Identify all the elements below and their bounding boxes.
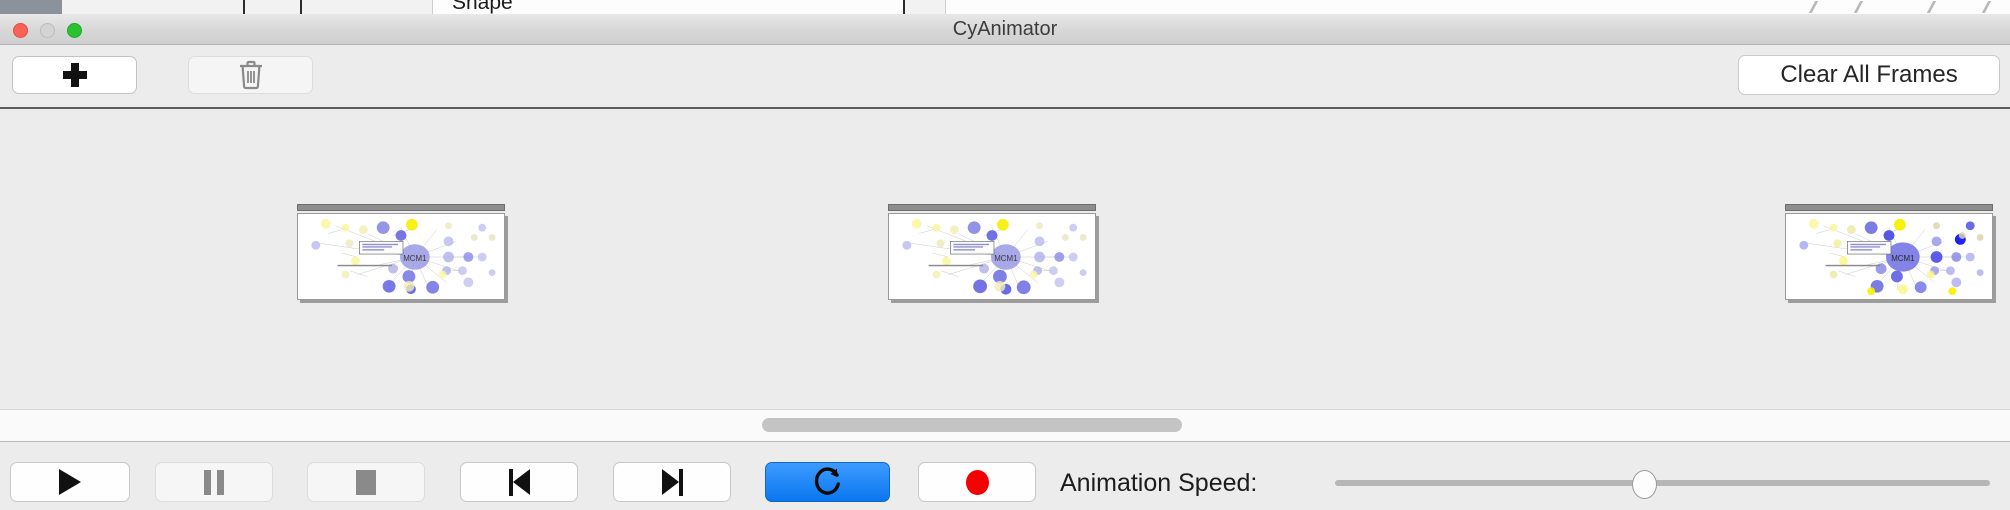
frame-thumbnail[interactable]: MCM1	[1785, 213, 1993, 300]
timeline-panel[interactable]: MCM1	[0, 109, 2010, 409]
animation-speed-slider-thumb[interactable]	[1632, 470, 1657, 499]
network-thumbnail-image: MCM1	[298, 214, 504, 299]
frame-thumbnail[interactable]: MCM1	[888, 213, 1096, 300]
plus-icon	[63, 63, 87, 87]
scrollbar-thumb[interactable]	[762, 418, 1182, 432]
pause-icon	[204, 470, 224, 495]
cyanimator-window: Shape CyAnimator Clear All Frames	[0, 0, 2010, 510]
skip-to-start-icon	[509, 469, 530, 496]
trash-icon	[238, 60, 264, 90]
svg-text:MCM1: MCM1	[403, 254, 426, 263]
timeline-scrollbar[interactable]	[0, 409, 2010, 442]
background-window-titlebar	[0, 0, 62, 14]
stop-button[interactable]	[307, 462, 425, 502]
animation-speed-label: Animation Speed:	[1060, 469, 1257, 498]
frame-thumbnail[interactable]: MCM1	[297, 213, 505, 300]
record-button[interactable]	[918, 462, 1036, 502]
clear-all-frames-label: Clear All Frames	[1780, 61, 1957, 89]
title-bar: CyAnimator	[0, 14, 2010, 45]
loop-button[interactable]	[765, 462, 890, 502]
skip-to-end-icon	[662, 469, 683, 496]
play-icon	[59, 469, 81, 495]
clear-all-frames-button[interactable]: Clear All Frames	[1738, 55, 2000, 95]
animation-speed-slider[interactable]	[1335, 480, 1990, 486]
page-title: CyAnimator	[0, 14, 2010, 45]
frame-drag-handle[interactable]	[1785, 204, 1993, 211]
delete-frame-button[interactable]	[188, 56, 313, 94]
add-frame-button[interactable]	[12, 56, 137, 94]
first-frame-button[interactable]	[460, 462, 578, 502]
last-frame-button[interactable]	[613, 462, 731, 502]
pause-button[interactable]	[155, 462, 273, 502]
play-button[interactable]	[10, 462, 130, 502]
playback-control-bar: Animation Speed:	[0, 442, 2010, 510]
network-thumbnail-image: MCM1	[1786, 214, 1992, 299]
background-window-label: Shape	[452, 0, 513, 14]
frame-drag-handle[interactable]	[888, 204, 1096, 211]
background-window-strip: Shape	[0, 0, 2010, 14]
svg-text:MCM1: MCM1	[994, 254, 1017, 263]
stop-icon	[356, 470, 376, 495]
svg-text:MCM1: MCM1	[1891, 254, 1914, 263]
network-thumbnail-image: MCM1	[889, 214, 1095, 299]
loop-icon	[813, 466, 843, 498]
record-icon	[966, 470, 989, 495]
frame-drag-handle[interactable]	[297, 204, 505, 211]
